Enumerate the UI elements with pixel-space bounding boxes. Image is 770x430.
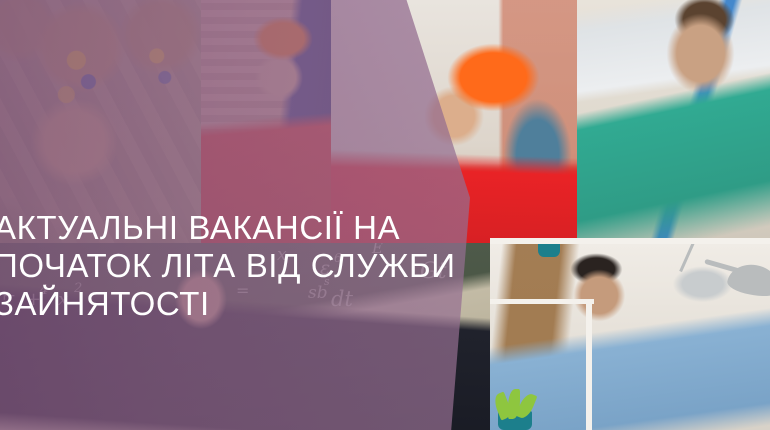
panel-divider — [490, 238, 770, 244]
plant-pot-icon — [538, 243, 560, 257]
desk-lamp-icon — [679, 243, 696, 272]
headline-line-3: ЗАЙНЯТОСТІ — [0, 285, 514, 323]
office-worker-photo — [490, 243, 770, 430]
headline-line-1: АКТУАЛЬНІ ВАКАНСІЇ НА — [0, 209, 514, 247]
panel-divider — [586, 299, 592, 430]
nurse-photo — [577, 0, 770, 243]
promo-banner: ε 6 x E Gt dt sb s = + 4 x 2 ⌐ — [0, 0, 770, 430]
banner-headline: АКТУАЛЬНІ ВАКАНСІЇ НА ПОЧАТОК ЛІТА ВІД С… — [0, 209, 514, 323]
headline-line-2: ПОЧАТОК ЛІТА ВІД СЛУЖБИ — [0, 247, 514, 285]
